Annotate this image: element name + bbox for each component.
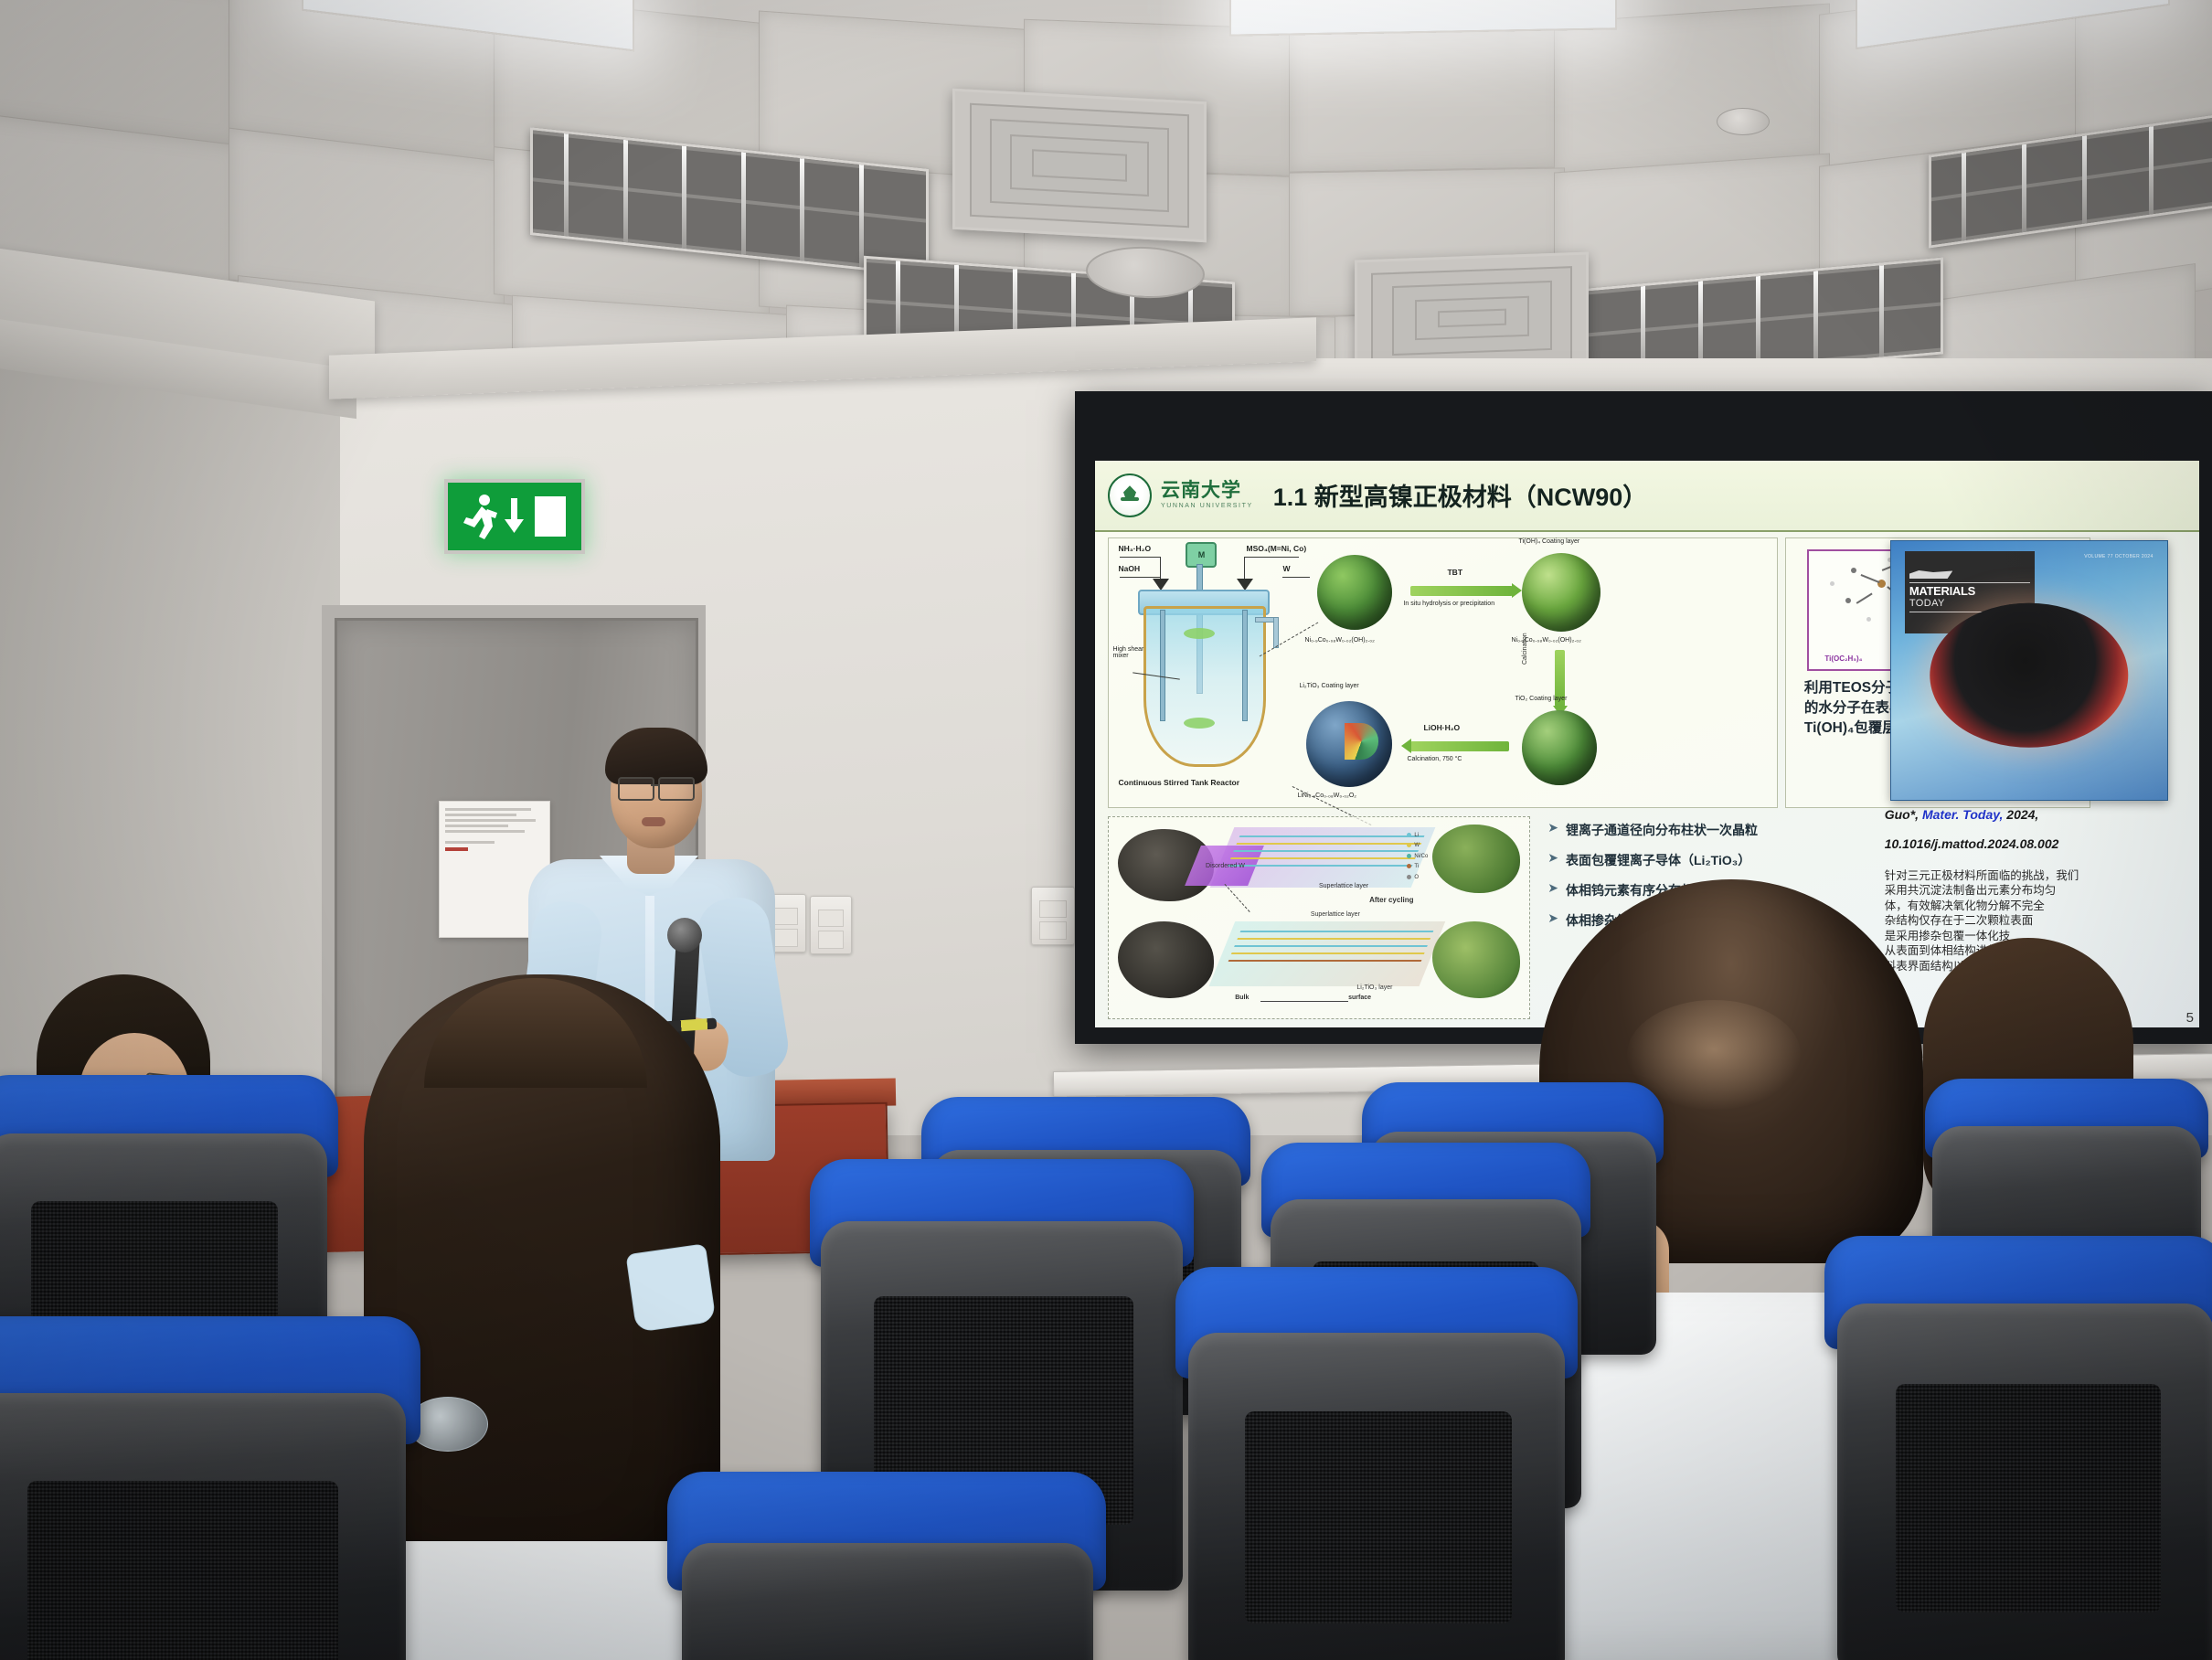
chevron-icon: ➤ [1547, 851, 1558, 865]
face-mask [625, 1243, 716, 1332]
cover-artwork [1930, 602, 2128, 748]
superlattice-label-2: Superlattice layer [1311, 911, 1360, 918]
slide-title: 1.1 新型高镍正极材料（NCW90） [1273, 477, 1648, 513]
auditorium-seat[interactable] [0, 1316, 420, 1660]
li2tio3-layer-label: Li₂TiO₃ layer [1356, 984, 1392, 991]
light-switch[interactable] [1031, 887, 1075, 945]
elsevier-logo-icon [1909, 570, 1952, 579]
journal-title-line1: MATERIALS [1909, 585, 2030, 597]
university-logo-icon [1108, 474, 1152, 517]
reactor-caption: Continuous Stirred Tank Reactor [1118, 778, 1239, 787]
mixer-label: High shear mixer [1112, 646, 1149, 660]
reactor-funnel [1153, 579, 1169, 591]
reactor-inlet-label-3: MSO₄(M=Ni, Co) [1246, 544, 1306, 553]
process-diagram-panel: NH₃·H₂O NaOH MSO₄(M=Ni, Co) W M [1108, 537, 1778, 808]
disordered-w-label: Disordered W [1206, 863, 1245, 869]
crystal-legend: Li W Ni/Co Ti O [1407, 831, 1428, 883]
reactor-impeller [1184, 628, 1215, 639]
step3-caption: Calcination, 750 °C [1407, 756, 1462, 762]
crystal-structure-panel: Superlattice layer After cycling Disorde… [1108, 816, 1529, 1019]
university-name-en: YUNNAN UNIVERSITY [1161, 503, 1253, 509]
presenter-hair [605, 728, 707, 784]
superlattice-label: Superlattice layer [1319, 883, 1368, 889]
reactor-outlet-pipe [1273, 617, 1279, 648]
calcination-label: Calcination [1522, 633, 1528, 665]
cathode-product-particle [1306, 701, 1392, 787]
step3-layer-label: Li₂TiO₃ Coating layer [1299, 683, 1358, 689]
reactor-inlet-label-2: NaOH [1118, 564, 1140, 573]
chevron-icon: ➤ [1547, 821, 1558, 835]
molecule-reactant-label: Ti(OC₂H₅)₄ [1824, 654, 1862, 663]
reactor-baffle [1242, 610, 1248, 721]
precursor-particle [1317, 555, 1392, 630]
precursor-formula: Ni₀.₉Co₀.₀₈W₀.₀₂(OH)₂.₀₂ [1304, 637, 1374, 644]
process-arrow-tbt [1410, 586, 1513, 596]
reactor-baffle [1160, 610, 1165, 721]
step1-layer-label: Ti(OH)₄ Coating layer [1518, 538, 1579, 545]
air-diffuser [952, 89, 1207, 243]
journal-cover-image: MATERIALS TODAY VOLUME 77 OCTOBER 2024 [1890, 540, 2168, 801]
reagent-tbt: TBT [1447, 568, 1462, 577]
sem-image [1118, 921, 1215, 998]
slide-title-bar: 云南大学 YUNNAN UNIVERSITY 1.1 新型高镍正极材料（NCW9… [1095, 461, 2199, 532]
bullet-item: ➤ 锂离子通道径向分布柱状一次晶粒 [1547, 821, 1878, 839]
auditorium-seat[interactable] [1175, 1267, 1578, 1660]
citation-year: 2024, [2006, 807, 2038, 822]
university-name-cn: 云南大学 [1161, 481, 1253, 500]
reactor-funnel [1237, 579, 1253, 591]
exit-sign [444, 479, 585, 554]
microphone-head-icon [667, 918, 702, 952]
surface-label: surface [1348, 995, 1371, 1001]
auditorium-seat[interactable] [1824, 1236, 2212, 1660]
slide-number: 5 [2186, 1010, 2194, 1026]
after-cycling-label: After cycling [1369, 896, 1413, 904]
lecture-hall-scene: 云南大学 YUNNAN UNIVERSITY 1.1 新型高镍正极材料（NCW9… [0, 0, 2212, 1660]
step1-caption: In situ hydrolysis or precipitation [1403, 601, 1494, 607]
running-man-exit-icon [454, 489, 575, 544]
citation-doi: 10.1016/j.mattod.2024.08.002 [1885, 835, 2059, 853]
reagent-lioh: LiOH·H₂O [1423, 723, 1460, 732]
presenter-glasses [658, 777, 695, 801]
smoke-detector-icon [1717, 108, 1770, 135]
journal-issue-text: VOLUME 77 OCTOBER 2024 [2084, 554, 2153, 559]
reactor-inlet-label-1: NH₃·H₂O [1118, 544, 1151, 553]
citation-line1: Guo*, Mater. Today, 2024, [1885, 806, 2039, 824]
tio2-coated-particle [1522, 710, 1597, 785]
auditorium-seat[interactable] [667, 1472, 1106, 1660]
bulk-label: Bulk [1235, 995, 1249, 1001]
reactor-inlet-label-4: W [1282, 564, 1290, 573]
reactor-impeller [1184, 718, 1215, 729]
step2-layer-label: TiO₂ Coating layer [1515, 696, 1567, 702]
bullet-item: ➤ 表面包覆锂离子导体（Li₂TiO₃） [1547, 851, 1878, 869]
citation-author: Guo*, [1885, 807, 1919, 822]
presenter-glasses [618, 777, 654, 801]
coated-precursor-particle [1522, 553, 1601, 632]
citation-journal: Mater. Today, [1922, 807, 2003, 822]
lioh-arrow [1410, 741, 1509, 751]
